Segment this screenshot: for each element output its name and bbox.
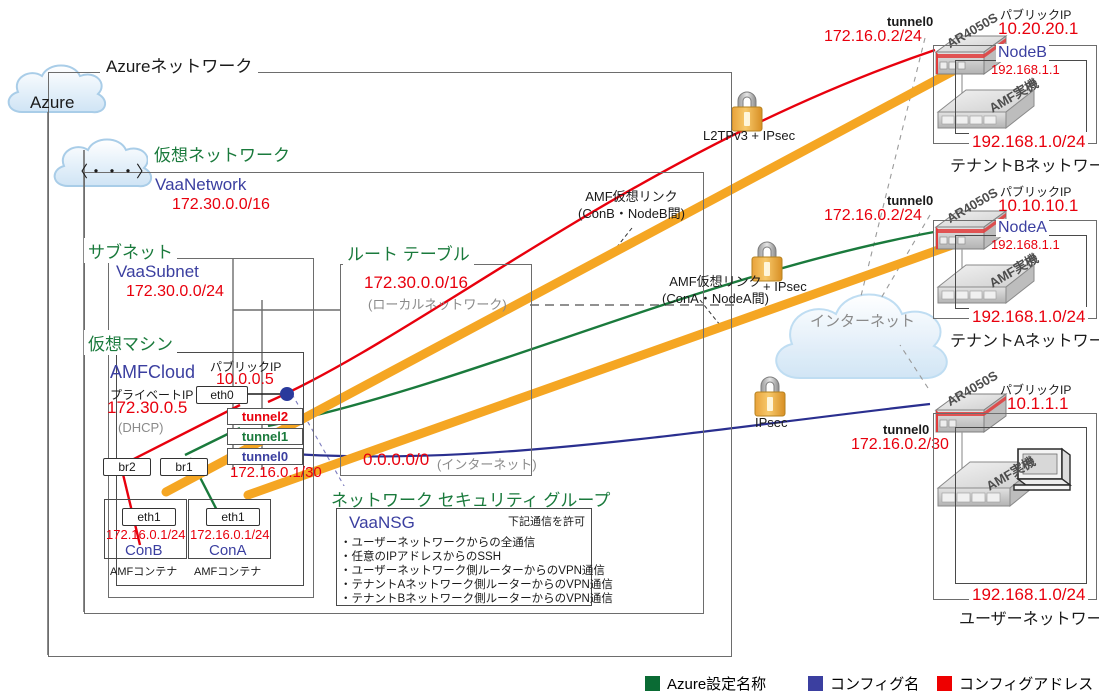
tenant-a-node-name: NodeA bbox=[996, 219, 1049, 237]
tenant-a-caption: テナントAネットワーク bbox=[950, 327, 1099, 351]
legend-item-config-name: コンフィグ名 bbox=[808, 673, 919, 694]
tenant-a-tunnel-cidr: 172.16.0.2/24 bbox=[824, 207, 922, 225]
amf-virtual-link-b-line1: AMF仮想リンク bbox=[578, 188, 685, 205]
tenant-b-tunnel-iface: tunnel0 bbox=[887, 14, 933, 29]
nsg-rule-4: ・テナントBネットワーク側ルーターからのVPN通信 bbox=[340, 590, 613, 606]
lock-label-l2tpv3-ipsec: L2TPv3 + IPsec bbox=[703, 128, 795, 143]
tunnel2-pill[interactable]: tunnel2 bbox=[227, 408, 303, 425]
eth0-pill[interactable]: eth0 bbox=[196, 386, 248, 404]
subnet-name: VaaSubnet bbox=[116, 262, 199, 282]
route-entry-local-note: (ローカルネットワーク) bbox=[368, 294, 507, 313]
cona-name: ConA bbox=[209, 542, 247, 559]
cona-eth1-pill[interactable]: eth1 bbox=[206, 508, 260, 526]
lock-label-ipsec-a: + IPsec bbox=[763, 279, 807, 294]
user-network-public-ip: 10.1.1.1 bbox=[1007, 394, 1068, 414]
route-entry-default-cidr: 0.0.0.0/0 bbox=[363, 450, 429, 470]
azure-network-label: Azureネットワーク bbox=[100, 52, 258, 77]
cona-caption: AMFコンテナ bbox=[194, 563, 261, 579]
legend-label-config-name: コンフィグ名 bbox=[830, 673, 919, 694]
br2-pill[interactable]: br2 bbox=[103, 458, 151, 476]
legend-item-azure-name: Azure設定名称 bbox=[645, 673, 766, 694]
amf-virtual-link-a-line2: (ConA・NodeA間) bbox=[662, 290, 769, 307]
vm-dhcp-note: (DHCP) bbox=[118, 420, 164, 435]
route-table-label: ルート テーブル bbox=[343, 240, 474, 265]
tunnel0-pill[interactable]: tunnel0 bbox=[227, 448, 303, 465]
user-network-caption: ユーザーネットワーク bbox=[959, 605, 1099, 629]
user-network-tunnel-iface: tunnel0 bbox=[883, 422, 929, 437]
user-network-router-model: AR4050S bbox=[944, 368, 1000, 409]
vm-name: AMFCloud bbox=[110, 362, 195, 383]
conb-cidr: 172.16.0.1/24 bbox=[106, 527, 186, 542]
amf-virtual-link-b-line2: (ConB・NodeB間) bbox=[578, 205, 685, 222]
amf-virtual-link-b-annotation: AMF仮想リンク (ConB・NodeB間) bbox=[578, 188, 685, 222]
legend-swatch-red bbox=[937, 676, 952, 691]
tenant-b-lan-cidr: 192.168.1.0/24 bbox=[969, 132, 1088, 152]
internet-cloud-icon bbox=[776, 295, 947, 379]
legend-swatch-green bbox=[645, 676, 660, 691]
azure-cloud-label: Azure bbox=[30, 93, 74, 113]
br1-pill[interactable]: br1 bbox=[160, 458, 208, 476]
conb-eth1-pill[interactable]: eth1 bbox=[122, 508, 176, 526]
virtual-network-label: 仮想ネットワーク bbox=[148, 141, 296, 166]
tenant-b-tunnel-cidr: 172.16.0.2/24 bbox=[824, 28, 922, 46]
lock-icon-ipsec-user bbox=[755, 377, 785, 416]
diagram-canvas: Azureネットワーク Azure 仮想ネットワーク 〈・・・〉 VaaNetw… bbox=[0, 0, 1099, 699]
tenant-b-node-ip: 192.168.1.1 bbox=[991, 62, 1060, 77]
subnet-label: サブネット bbox=[84, 238, 177, 263]
internet-cloud-label: インターネット bbox=[810, 310, 915, 331]
vnet-cloud-label: 〈・・・〉 bbox=[72, 158, 152, 182]
lock-label-ipsec-user: IPsec bbox=[755, 415, 788, 430]
tunnel1-pill[interactable]: tunnel1 bbox=[227, 428, 303, 445]
virtual-machine-label: 仮想マシン bbox=[84, 330, 177, 355]
conb-name: ConB bbox=[125, 542, 163, 559]
virtual-network-cidr: 172.30.0.0/16 bbox=[172, 196, 270, 214]
route-entry-default-note: (インターネット) bbox=[437, 454, 537, 473]
amf-virtual-link-a-line1: AMF仮想リンク bbox=[662, 273, 769, 290]
tenant-b-public-ip: 10.20.20.1 bbox=[998, 19, 1078, 39]
tenant-b-node-name: NodeB bbox=[996, 44, 1049, 62]
amf-virtual-link-a-annotation: AMF仮想リンク (ConA・NodeA間) bbox=[662, 273, 769, 307]
vm-private-ip: 172.30.0.5 bbox=[107, 398, 187, 418]
tenant-a-public-ip: 10.10.10.1 bbox=[998, 196, 1078, 216]
tenant-a-node-ip: 192.168.1.1 bbox=[991, 237, 1060, 252]
user-network-lan-cidr: 192.168.1.0/24 bbox=[969, 585, 1088, 605]
nsg-note: 下記通信を許可 bbox=[508, 513, 585, 529]
legend-label-config-address: コンフィグアドレス bbox=[959, 673, 1093, 694]
user-network-lan-box bbox=[955, 427, 1087, 584]
legend-label-azure-name: Azure設定名称 bbox=[667, 673, 766, 694]
subnet-cidr: 172.30.0.0/24 bbox=[126, 283, 224, 301]
conb-caption: AMFコンテナ bbox=[110, 563, 177, 579]
tenant-b-caption: テナントBネットワーク bbox=[950, 152, 1099, 176]
legend-swatch-blue bbox=[808, 676, 823, 691]
route-entry-local-cidr: 172.30.0.0/16 bbox=[364, 273, 468, 293]
virtual-network-name: VaaNetwork bbox=[155, 175, 246, 195]
vm-tunnel-cidr: 172.16.0.1/30 bbox=[230, 464, 322, 481]
tenant-a-lan-cidr: 192.168.1.0/24 bbox=[969, 307, 1088, 327]
legend-item-config-address: コンフィグアドレス bbox=[937, 673, 1093, 694]
lock-icon-l2tpv3-ipsec bbox=[732, 92, 762, 131]
tenant-a-tunnel-iface: tunnel0 bbox=[887, 193, 933, 208]
nsg-name: VaaNSG bbox=[349, 513, 415, 533]
cona-cidr: 172.16.0.1/24 bbox=[190, 527, 270, 542]
